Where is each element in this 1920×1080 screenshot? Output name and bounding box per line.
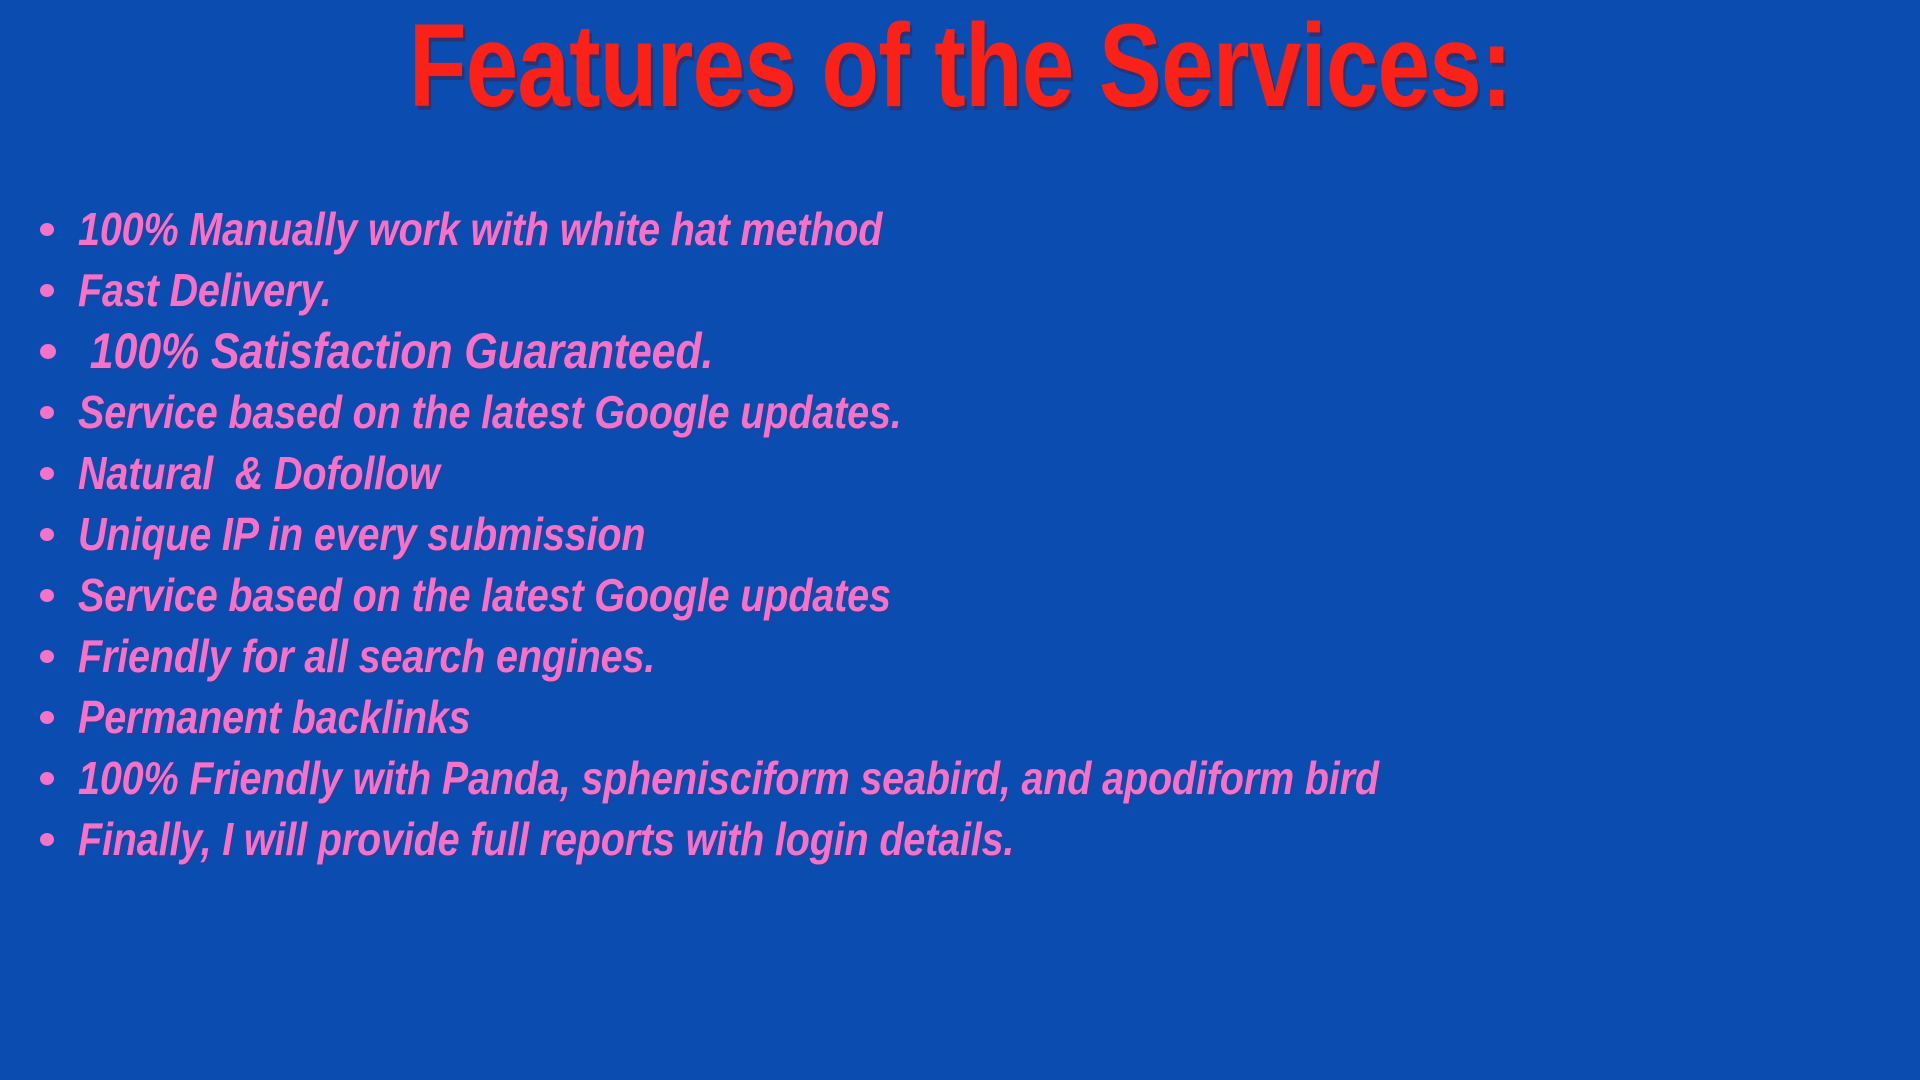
bullet-dot-icon <box>40 467 54 480</box>
list-item: Service based on the latest Google updat… <box>0 381 1920 442</box>
list-item: Finally, I will provide full reports wit… <box>0 808 1920 869</box>
bullet-dot-icon <box>40 650 54 663</box>
title-block: Features of the Services: <box>0 0 1920 140</box>
list-item-label: Natural & Dofollow <box>78 450 440 496</box>
slide-canvas: Features of the Services: 100% Manually … <box>0 0 1920 1080</box>
features-list: 100% Manually work with white hat method… <box>0 198 1920 869</box>
list-item: Fast Delivery. <box>0 259 1920 320</box>
bullet-dot-icon <box>40 223 54 236</box>
list-item-label: Friendly for all search engines. <box>78 633 655 679</box>
list-item-label: 100% Friendly with Panda, sphenisciform … <box>78 755 1379 801</box>
list-item: 100% Friendly with Panda, sphenisciform … <box>0 747 1920 808</box>
list-item: Natural & Dofollow <box>0 442 1920 503</box>
bullet-dot-icon <box>40 833 54 846</box>
list-item-label: 100% Manually work with white hat method <box>78 206 882 252</box>
bullet-dot-icon <box>40 284 54 297</box>
list-item-label: Service based on the latest Google updat… <box>78 389 902 435</box>
list-item: Unique IP in every submission <box>0 503 1920 564</box>
bullet-dot-icon <box>40 711 54 724</box>
list-item: 100% Satisfaction Guaranteed. <box>0 320 1920 381</box>
bullet-dot-icon <box>40 528 54 541</box>
bullet-dot-icon <box>40 772 54 785</box>
page-title: Features of the Services: <box>409 0 1512 126</box>
bullet-dot-icon <box>40 344 56 359</box>
bullet-dot-icon <box>40 589 54 602</box>
list-item-label: Service based on the latest Google updat… <box>78 572 891 618</box>
list-item: Permanent backlinks <box>0 686 1920 747</box>
list-item-label: Permanent backlinks <box>78 694 471 740</box>
bullet-dot-icon <box>40 406 54 419</box>
list-item-label: 100% Satisfaction Guaranteed. <box>78 326 713 376</box>
list-item-label: Unique IP in every submission <box>78 511 645 557</box>
list-item: Service based on the latest Google updat… <box>0 564 1920 625</box>
list-item: Friendly for all search engines. <box>0 625 1920 686</box>
list-item-label: Fast Delivery. <box>78 267 331 313</box>
list-item: 100% Manually work with white hat method <box>0 198 1920 259</box>
list-item-label: Finally, I will provide full reports wit… <box>78 816 1014 862</box>
